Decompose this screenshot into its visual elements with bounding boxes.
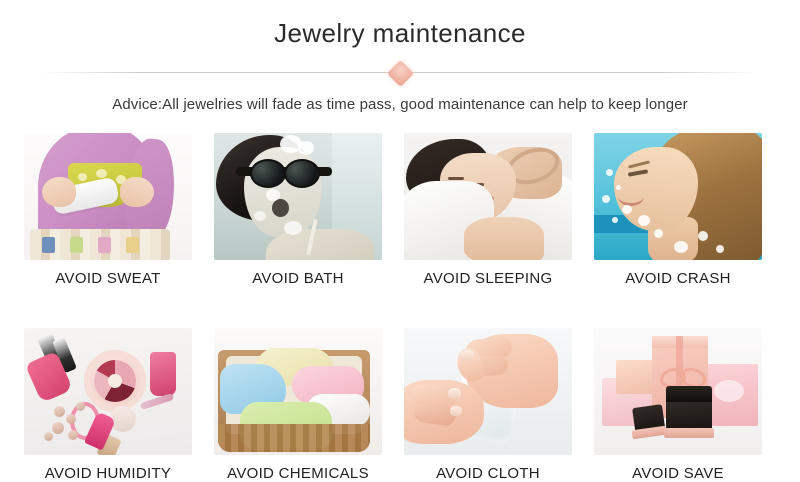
tile-avoid-humidity: AVOID HUMIDITY	[24, 328, 192, 482]
tile-label: AVOID CRASH	[594, 270, 762, 287]
tile-avoid-save: AVOID SAVE	[594, 328, 762, 482]
tile-label: AVOID CHEMICALS	[214, 465, 382, 482]
woman-sleeping-on-pillow-photo	[404, 133, 572, 260]
page-title: Jewelry maintenance	[0, 18, 800, 49]
tile-avoid-sweat: AVOID SWEAT	[24, 133, 192, 287]
tile-avoid-cloth: AVOID CLOTH	[404, 328, 572, 482]
tile-label: AVOID SWEAT	[24, 270, 192, 287]
grid-row-1: AVOID SWEAT	[24, 133, 778, 287]
tile-label: AVOID SAVE	[594, 465, 762, 482]
advice-text: Advice:All jewelries will fade as time p…	[0, 96, 800, 113]
tile-avoid-sleeping: AVOID SLEEPING	[404, 133, 572, 287]
pink-gift-boxes-jewelry-box-photo	[594, 328, 762, 455]
pink-cosmetics-flatlay-photo	[24, 328, 192, 455]
tile-avoid-chemicals: AVOID CHEMICALS	[214, 328, 382, 482]
tile-avoid-crash: AVOID CRASH	[594, 133, 762, 287]
diamond-icon	[387, 60, 414, 87]
section-divider	[40, 72, 760, 74]
tile-label: AVOID HUMIDITY	[24, 465, 192, 482]
woman-wiping-sweat-photo	[24, 133, 192, 260]
woman-splashing-water-photo	[594, 133, 762, 260]
tile-avoid-bath: AVOID BATH	[214, 133, 382, 287]
woman-with-goggles-bathing-photo	[214, 133, 382, 260]
tile-label: AVOID SLEEPING	[404, 270, 572, 287]
pastel-towels-in-basket-photo	[214, 328, 382, 455]
hands-holding-plastic-bag-photo	[404, 328, 572, 455]
jewelry-maintenance-banner: Jewelry maintenance Advice:All jewelries…	[0, 0, 800, 482]
tile-label: AVOID BATH	[214, 270, 382, 287]
maintenance-grid: AVOID SWEAT	[24, 133, 778, 482]
tile-label: AVOID CLOTH	[404, 465, 572, 482]
grid-row-2: AVOID HUMIDITY AVOID CHEMICALS	[24, 328, 778, 482]
